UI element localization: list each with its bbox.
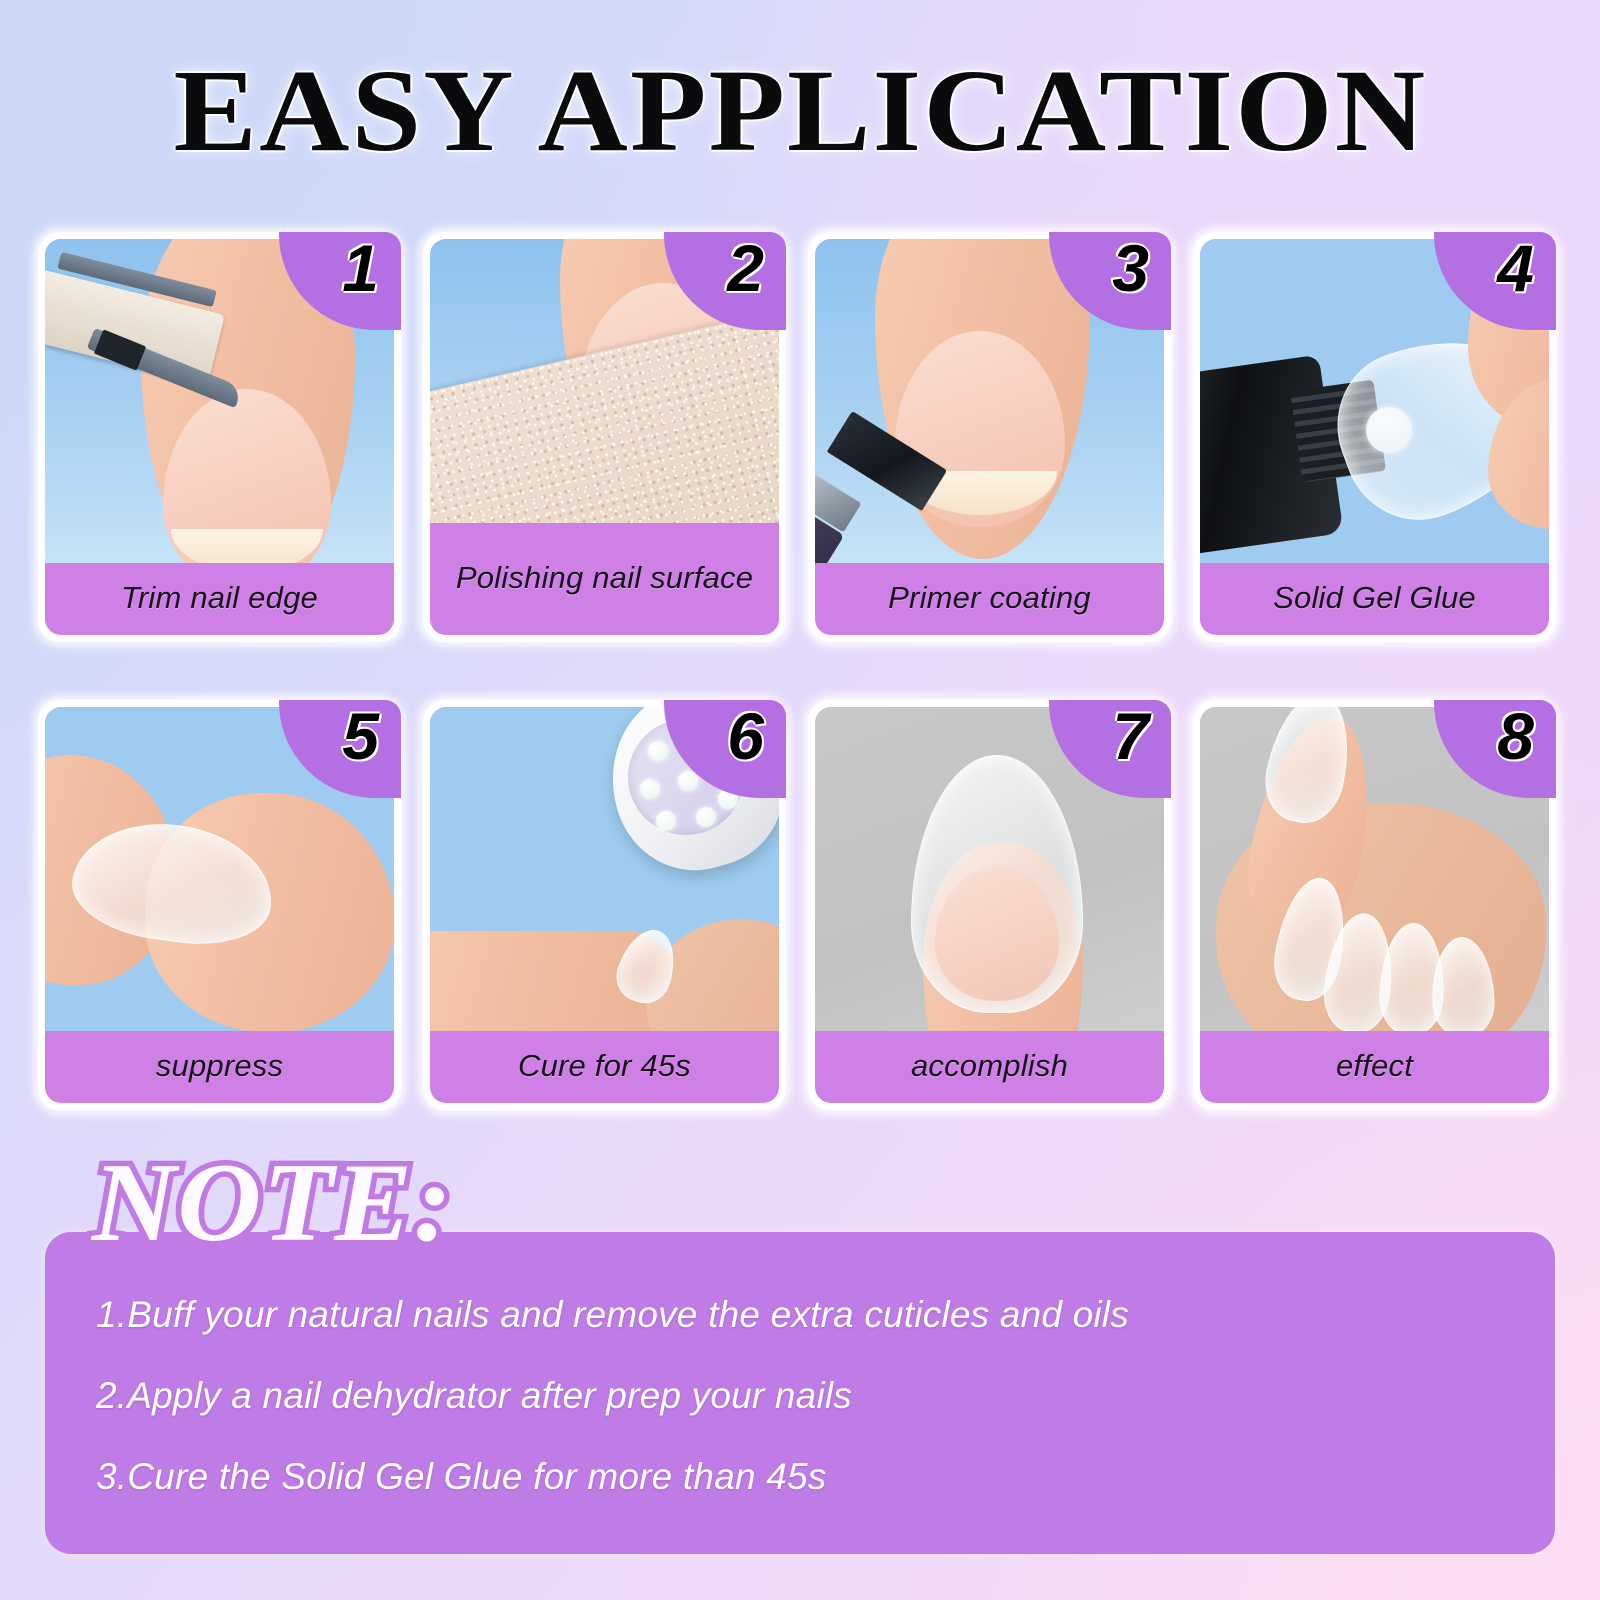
step-caption-2: Polishing nail surface	[430, 523, 779, 635]
note-line: 1.Buff your natural nails and remove the…	[96, 1296, 1496, 1333]
step-caption-5: suppress	[45, 1031, 394, 1103]
page-title: EASY APPLICATION	[173, 52, 1427, 170]
step-caption-6: Cure for 45s	[430, 1031, 779, 1103]
step-number-4: 4	[1497, 234, 1534, 303]
note-line: 2.Apply a nail dehydrator after prep you…	[96, 1377, 1496, 1414]
step-caption-7: accomplish	[815, 1031, 1164, 1103]
steps-row-2: suppress 5	[38, 700, 1562, 1110]
step-number-7: 7	[1112, 702, 1149, 771]
step-card-8[interactable]: effect 8	[1193, 700, 1556, 1110]
steps-grid: Trim nail edge 1 Polishing nail surface …	[38, 232, 1562, 1110]
step-caption-1: Trim nail edge	[45, 563, 394, 635]
step-card-6[interactable]: Cure for 45s 6	[423, 700, 786, 1110]
step-card-7[interactable]: accomplish 7	[808, 700, 1171, 1110]
step-caption-4: Solid Gel Glue	[1200, 563, 1549, 635]
nail-tip	[171, 529, 323, 563]
step-number-5: 5	[342, 702, 379, 771]
step-number-3: 3	[1112, 234, 1149, 303]
step-number-2: 2	[727, 234, 764, 303]
note-list: 1.Buff your natural nails and remove the…	[96, 1296, 1496, 1495]
steps-row-1: Trim nail edge 1 Polishing nail surface …	[38, 232, 1562, 642]
lamp-led	[640, 779, 660, 799]
lamp-led	[656, 811, 676, 831]
step-number-1: 1	[342, 234, 379, 303]
lamp-led	[648, 741, 668, 761]
note-heading: NOTE:	[92, 1147, 453, 1259]
step-card-4[interactable]: Solid Gel Glue 4	[1193, 232, 1556, 642]
step-caption-3: Primer coating	[815, 563, 1164, 635]
step-caption-8: effect	[1200, 1031, 1549, 1103]
step-card-1[interactable]: Trim nail edge 1	[38, 232, 401, 642]
lamp-led	[678, 771, 698, 791]
step-card-3[interactable]: Primer coating 3	[808, 232, 1171, 642]
step-card-2[interactable]: Polishing nail surface 2	[423, 232, 786, 642]
page-title-wrap: EASY APPLICATION	[0, 52, 1600, 170]
note-line: 3.Cure the Solid Gel Glue for more than …	[96, 1458, 1496, 1495]
step-number-8: 8	[1497, 702, 1534, 771]
lamp-led	[696, 807, 716, 827]
step-number-6: 6	[727, 702, 764, 771]
step-card-5[interactable]: suppress 5	[38, 700, 401, 1110]
